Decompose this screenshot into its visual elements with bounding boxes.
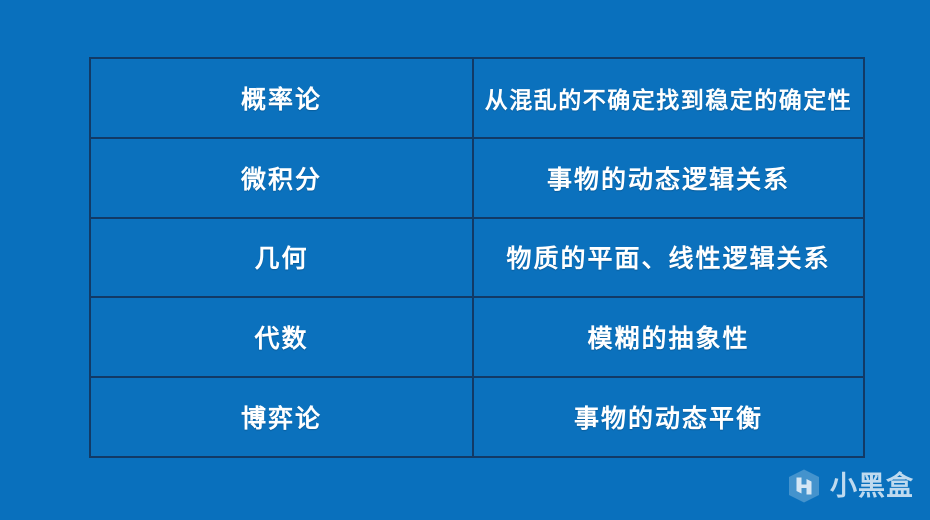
table-cell-term: 概率论 — [90, 58, 473, 138]
table-cell-term: 几何 — [90, 218, 473, 298]
table-cell-term: 微积分 — [90, 138, 473, 218]
table-row: 几何 物质的平面、线性逻辑关系 — [90, 218, 864, 298]
table-cell-description: 事物的动态平衡 — [473, 377, 864, 457]
table-cell-description: 模糊的抽象性 — [473, 297, 864, 377]
xiaoheihe-logo-icon — [786, 468, 822, 504]
concept-table: 概率论 从混乱的不确定找到稳定的确定性 微积分 事物的动态逻辑关系 几何 物质的… — [89, 57, 865, 458]
table-row: 概率论 从混乱的不确定找到稳定的确定性 — [90, 58, 864, 138]
table-body: 概率论 从混乱的不确定找到稳定的确定性 微积分 事物的动态逻辑关系 几何 物质的… — [90, 58, 864, 457]
table-cell-description: 事物的动态逻辑关系 — [473, 138, 864, 218]
table-row: 代数 模糊的抽象性 — [90, 297, 864, 377]
watermark: 小黑盒 — [786, 468, 914, 504]
slide-canvas: 概率论 从混乱的不确定找到稳定的确定性 微积分 事物的动态逻辑关系 几何 物质的… — [0, 0, 930, 520]
table-cell-description: 物质的平面、线性逻辑关系 — [473, 218, 864, 298]
table-cell-term: 博弈论 — [90, 377, 473, 457]
table-row: 微积分 事物的动态逻辑关系 — [90, 138, 864, 218]
table-row: 博弈论 事物的动态平衡 — [90, 377, 864, 457]
watermark-label: 小黑盒 — [830, 473, 914, 500]
table-cell-description: 从混乱的不确定找到稳定的确定性 — [473, 58, 864, 138]
table-cell-term: 代数 — [90, 297, 473, 377]
